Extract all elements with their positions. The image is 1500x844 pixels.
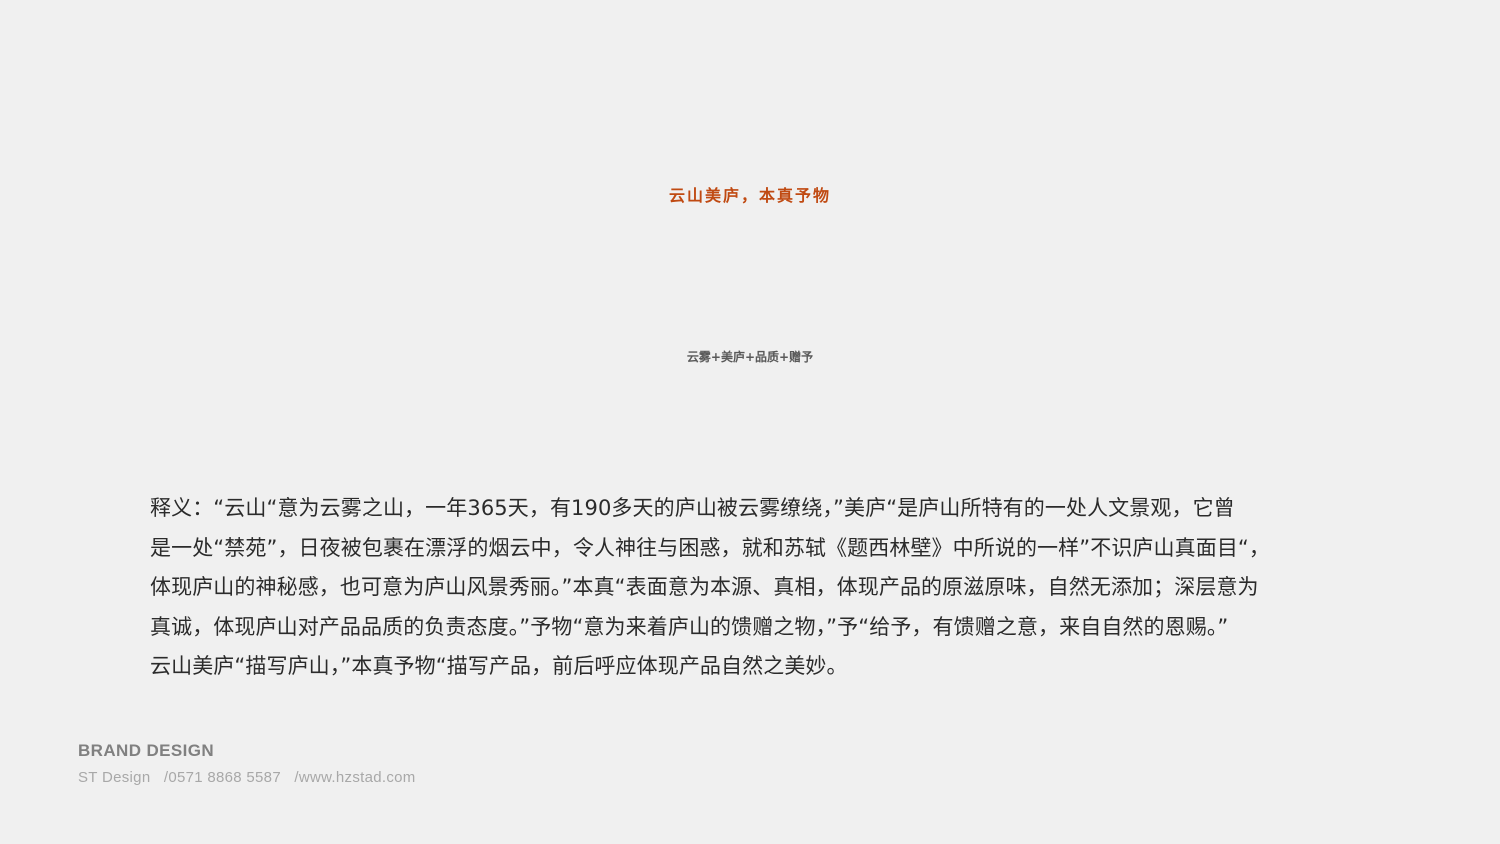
page-title: 云山美庐，本真予物 — [0, 187, 1500, 204]
slide-canvas: 云山美庐，本真予物 云雾+美庐+品质+赠予 释义：“云山“意为云雾之山，一年36… — [0, 0, 1500, 844]
footer-contact-details: ST Design /0571 8868 5587 /www.hzstad.co… — [78, 767, 416, 789]
paragraph-line-2: 是一处“禁苑”，日夜被包裹在漂浮的烟云中，令人神往与困惑，就和苏轼《题西林壁》中… — [150, 529, 1355, 569]
paragraph-line-1: 释义：“云山“意为云雾之山，一年365天，有190多天的庐山被云雾缭绕，”美庐“… — [150, 489, 1355, 529]
slide-footer: BRAND DESIGN ST Design /0571 8868 5587 /… — [78, 740, 416, 789]
paragraph-line-3: 体现庐山的神秘感，也可意为庐山风景秀丽。”本真“表面意为本源、真相，体现产品的原… — [150, 568, 1355, 608]
page-subtitle: 云雾+美庐+品质+赠予 — [0, 351, 1500, 365]
paragraph-line-5: 云山美庐“描写庐山，”本真予物“描写产品，前后呼应体现产品自然之美妙。 — [150, 647, 1355, 687]
paragraph-line-4: 真诚，体现庐山对产品品质的负责态度。”予物“意为来着庐山的馈赠之物，”予“给予，… — [150, 608, 1355, 648]
definition-paragraph: 释义：“云山“意为云雾之山，一年365天，有190多天的庐山被云雾缭绕，”美庐“… — [150, 489, 1355, 687]
footer-brand-label: BRAND DESIGN — [78, 740, 416, 762]
